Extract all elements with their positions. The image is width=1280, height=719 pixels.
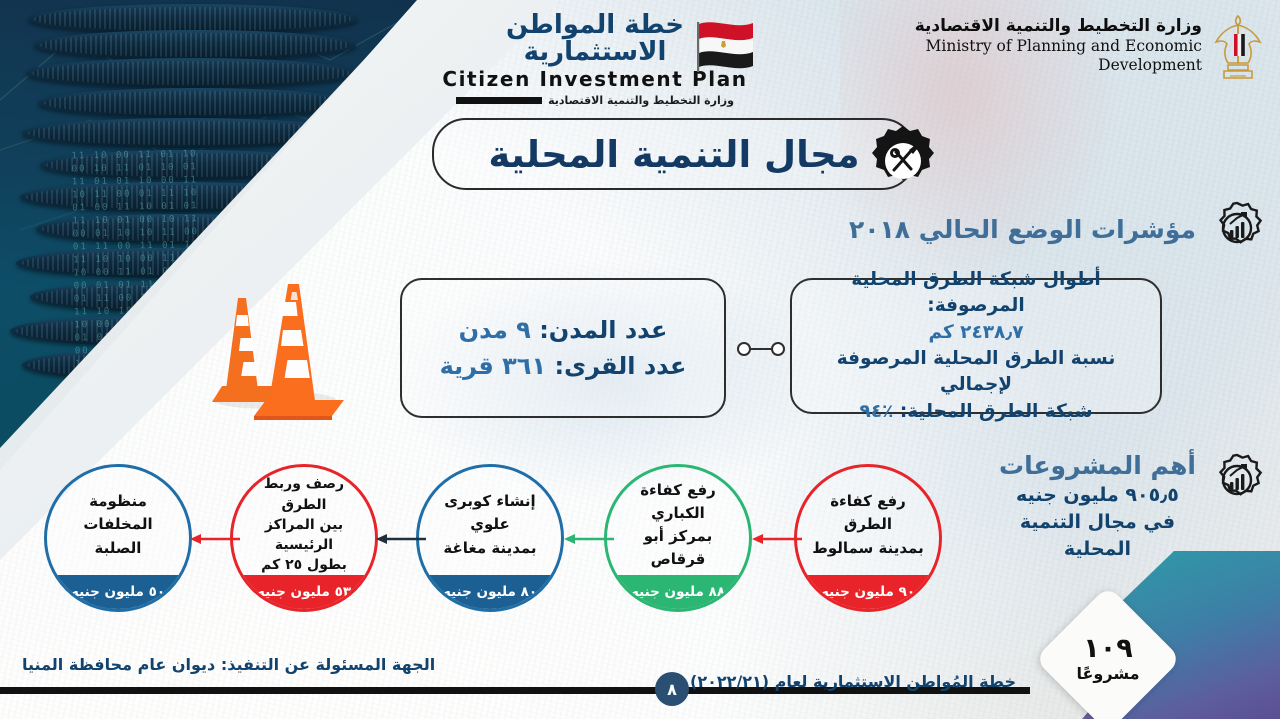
project-4-line3: بطول ٢٥ كم	[247, 555, 361, 575]
project-circle-1[interactable]: رفع كفاءة الطرق بمدينة سمالوط ٩٠ مليون ج…	[794, 464, 942, 612]
project-5-line1: منظومة	[61, 490, 175, 513]
indicators-section-header: مؤشرات الوضع الحالي ٢٠١٨	[849, 200, 1266, 258]
villages-label: عدد القرى:	[554, 352, 686, 380]
page-title: مجال التنمية المحلية	[488, 133, 859, 176]
project-3-label: إنشاء كوبرى علوي بمدينة مغاغة	[419, 490, 561, 586]
indicators-section-label: مؤشرات الوضع الحالي ٢٠١٨	[849, 215, 1196, 244]
cities-villages-card: عدد المدن: ٩ مدن عدد القرى: ٣٦١ قرية	[400, 278, 726, 418]
gear-tools-icon	[866, 124, 940, 198]
page-number-badge: ٨	[655, 672, 689, 706]
project-2-label: رفع كفاءة الكباري بمركز أبو قرقاص	[607, 479, 749, 598]
project-4-label: رصف وربط الطرق بين المراكز الرئيسية بطول…	[233, 474, 375, 601]
projects-section-header: أهم المشروعات ٩٠٥٫٥ مليون جنيه في مجال ا…	[999, 452, 1266, 561]
gear-chart-icon	[1208, 200, 1266, 258]
cities-value: ٩ مدن	[459, 316, 531, 344]
citizen-investment-plan-logo: خطة المواطن الاستثمارية Citizen Investme…	[440, 12, 750, 107]
project-3-line1: إنشاء كوبرى علوي	[433, 490, 547, 537]
ministry-name-arabic: وزارة التخطيط والتنمية الاقتصادية	[915, 16, 1202, 37]
roads-length-value: ٢٤٣٨٫٧ كم	[928, 320, 1023, 346]
egypt-flag-icon	[695, 18, 757, 76]
roads-network-card: أطوال شبكة الطرق المحلية المرصوفة: ٢٤٣٨٫…	[790, 278, 1162, 414]
projects-amount-line2: في مجال التنمية	[999, 510, 1196, 534]
project-2-line2: بمركز أبو قرقاص	[621, 525, 735, 572]
projects-amount-line1: ٩٠٥٫٥ مليون جنيه	[999, 483, 1196, 507]
projects-count-label: مشروعًا	[1076, 664, 1139, 683]
flow-arrow-1	[750, 531, 804, 547]
card-connector	[735, 338, 787, 360]
infographic-page: 10 01 11 00 10 1101 10 01 11 10 0011 00 …	[0, 0, 1280, 719]
project-4-line1: رصف وربط الطرق	[247, 474, 361, 515]
projects-amount-line3: المحلية	[999, 537, 1196, 561]
project-5-label: منظومة المخلفات الصلبة	[47, 490, 189, 586]
cip-subtitle: وزارة التخطيط والتنمية الاقتصادية	[440, 94, 750, 107]
cip-rule-decoration	[456, 97, 542, 104]
cities-label: عدد المدن:	[539, 316, 667, 344]
roads-length-label: أطوال شبكة الطرق المحلية المرصوفة:	[806, 267, 1146, 320]
egypt-eagle-emblem-icon	[1210, 10, 1266, 84]
ministry-name-english-line2: Development	[915, 56, 1202, 75]
project-circle-5[interactable]: منظومة المخلفات الصلبة ٥٠ مليون جنيه	[44, 464, 192, 612]
ministry-logo: وزارة التخطيط والتنمية الاقتصادية Minist…	[915, 16, 1202, 74]
project-4-line2: بين المراكز الرئيسية	[247, 515, 361, 556]
project-5-line2: المخلفات الصلبة	[61, 513, 175, 560]
traffic-cones-icon	[196, 250, 376, 420]
projects-count-number: ١٠٩	[1083, 635, 1132, 662]
gear-chart-icon	[1208, 452, 1266, 510]
project-1-line1: رفع كفاءة الطرق	[811, 490, 925, 537]
projects-section-title: أهم المشروعات	[999, 452, 1196, 480]
roads-ratio-label-line1: نسبة الطرق المحلية المرصوفة لإجمالي	[806, 346, 1146, 399]
villages-row: عدد القرى: ٣٦١ قرية	[440, 348, 687, 384]
villages-value: ٣٦١ قرية	[440, 352, 547, 380]
page-title-banner: مجال التنمية المحلية	[432, 118, 916, 190]
roads-ratio-label-line2: شبكة الطرق المحلية:	[900, 401, 1093, 422]
project-1-label: رفع كفاءة الطرق بمدينة سمالوط	[797, 490, 939, 586]
project-1-line2: بمدينة سمالوط	[811, 537, 925, 560]
project-2-line1: رفع كفاءة الكباري	[621, 479, 735, 526]
responsible-entity: الجهة المسئولة عن التنفيذ: ديوان عام محا…	[22, 655, 435, 674]
project-circle-3[interactable]: إنشاء كوبرى علوي بمدينة مغاغة ٨٠ مليون ج…	[416, 464, 564, 612]
project-circle-4[interactable]: رصف وربط الطرق بين المراكز الرئيسية بطول…	[230, 464, 378, 612]
plan-year-label: خطة المُواطن الاستثمارية لعام (٢٠٢٢/٢١)	[690, 672, 1016, 691]
roads-ratio-row: شبكة الطرق المحلية: ٪٩٤	[859, 399, 1092, 425]
project-circle-2[interactable]: رفع كفاءة الكباري بمركز أبو قرقاص ٨٨ ملي…	[604, 464, 752, 612]
cip-subtitle-text: وزارة التخطيط والتنمية الاقتصادية	[548, 94, 734, 107]
ministry-name-english-line1: Ministry of Planning and Economic	[915, 37, 1202, 56]
project-3-line2: بمدينة مغاغة	[433, 537, 547, 560]
cities-row: عدد المدن: ٩ مدن	[459, 312, 668, 348]
roads-ratio-value: ٪٩٤	[859, 401, 893, 422]
